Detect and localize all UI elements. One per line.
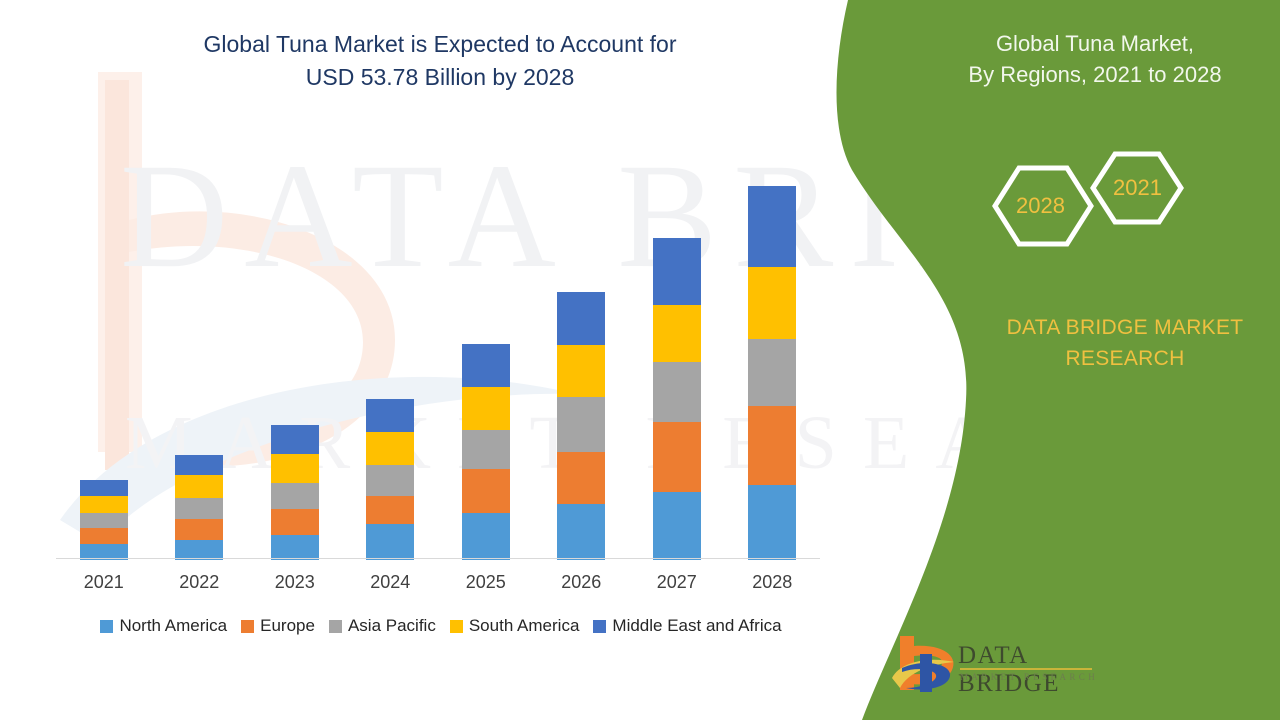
hexagon-outline-icons <box>985 148 1185 278</box>
bar-segment <box>653 422 701 492</box>
x-axis-tick-label: 2023 <box>250 572 340 593</box>
hexagon-2021-label: 2021 <box>1113 175 1162 201</box>
title-line-1: Global Tuna Market is Expected to Accoun… <box>140 28 740 61</box>
brand-line-2: RESEARCH <box>975 343 1275 374</box>
legend-swatch-icon <box>450 620 463 633</box>
legend-label: Middle East and Africa <box>612 616 781 636</box>
legend-swatch-icon <box>100 620 113 633</box>
legend-label: North America <box>119 616 227 636</box>
title-line-2: USD 53.78 Billion by 2028 <box>140 61 740 94</box>
legend-swatch-icon <box>593 620 606 633</box>
x-axis-tick-label: 2024 <box>345 572 435 593</box>
right-title-line-2: By Regions, 2021 to 2028 <box>930 59 1260 90</box>
right-title-line-1: Global Tuna Market, <box>930 28 1260 59</box>
bar-segment <box>366 524 414 560</box>
bar-segment <box>462 344 510 387</box>
bar-segment <box>175 455 223 475</box>
x-axis-tick-label: 2021 <box>59 572 149 593</box>
legend-swatch-icon <box>329 620 342 633</box>
bar-segment <box>271 454 319 483</box>
bar-group <box>653 238 701 560</box>
legend-item[interactable]: Europe <box>241 616 315 636</box>
x-axis-tick-label: 2027 <box>632 572 722 593</box>
logo-divider <box>960 668 1092 670</box>
legend-item[interactable]: Asia Pacific <box>329 616 436 636</box>
bar-segment <box>271 535 319 560</box>
bar-group <box>557 292 605 560</box>
bar-segment <box>366 465 414 496</box>
bar-segment <box>557 452 605 504</box>
infographic-root: DATA BRIDGE MARKET RESEARCH Global Tuna … <box>0 0 1280 720</box>
legend-swatch-icon <box>241 620 254 633</box>
data-bridge-logo: DATA BRIDGE MARKET RESEARCH <box>890 634 1105 696</box>
logo-tagline: MARKET RESEARCH <box>960 672 1098 682</box>
legend-label: South America <box>469 616 580 636</box>
legend-label: Asia Pacific <box>348 616 436 636</box>
brand-line-1: DATA BRIDGE MARKET <box>975 312 1275 343</box>
bar-segment <box>462 469 510 513</box>
bar-group <box>80 480 128 560</box>
legend-item[interactable]: South America <box>450 616 580 636</box>
brand-name-text: DATA BRIDGE MARKET RESEARCH <box>975 312 1275 374</box>
bar-segment <box>175 540 223 560</box>
bar-segment <box>175 519 223 540</box>
bar-segment <box>557 504 605 560</box>
bar-segment <box>175 475 223 498</box>
bar-segment <box>462 513 510 560</box>
bar-group <box>271 425 319 560</box>
bar-segment <box>748 186 796 267</box>
logo-wordmark: DATA BRIDGE <box>958 642 1105 698</box>
x-axis-tick-label: 2026 <box>536 572 626 593</box>
bar-segment <box>748 267 796 339</box>
bar-segment <box>653 238 701 305</box>
bar-segment <box>557 397 605 452</box>
bar-segment <box>80 480 128 496</box>
bar-segment <box>80 528 128 544</box>
logo-mark-icon <box>890 634 962 694</box>
x-axis-labels: 20212022202320242025202620272028 <box>56 572 820 602</box>
bar-segment <box>462 430 510 469</box>
bar-segment <box>271 483 319 509</box>
bar-segment <box>80 513 128 528</box>
right-panel-title: Global Tuna Market, By Regions, 2021 to … <box>930 28 1260 90</box>
x-axis-line <box>56 558 820 559</box>
bar-group <box>462 344 510 560</box>
bar-segment <box>366 432 414 465</box>
bar-group <box>366 399 414 560</box>
bar-group <box>175 455 223 560</box>
legend-item[interactable]: North America <box>100 616 227 636</box>
bar-segment <box>366 399 414 432</box>
bar-segment <box>748 406 796 485</box>
bar-segment <box>271 509 319 535</box>
legend-label: Europe <box>260 616 315 636</box>
bar-segment <box>653 492 701 560</box>
bar-segment <box>557 292 605 345</box>
bar-segment <box>557 345 605 397</box>
x-axis-tick-label: 2025 <box>441 572 531 593</box>
x-axis-tick-label: 2028 <box>727 572 817 593</box>
bar-segment <box>271 425 319 454</box>
chart-legend: North AmericaEuropeAsia PacificSouth Ame… <box>56 616 826 636</box>
page-title: Global Tuna Market is Expected to Accoun… <box>140 28 740 94</box>
bar-segment <box>748 339 796 406</box>
legend-item[interactable]: Middle East and Africa <box>593 616 781 636</box>
bar-segment <box>653 305 701 362</box>
bar-segment <box>175 498 223 519</box>
bar-segment <box>653 362 701 422</box>
bar-segment <box>80 496 128 513</box>
bar-group <box>748 186 796 560</box>
bar-segment <box>748 485 796 560</box>
hexagon-badges: 2028 2021 <box>985 148 1185 278</box>
chart-plot-area <box>56 150 820 560</box>
bar-segment <box>366 496 414 524</box>
hexagon-2028-label: 2028 <box>1016 193 1065 219</box>
x-axis-tick-label: 2022 <box>154 572 244 593</box>
bar-segment <box>462 387 510 430</box>
